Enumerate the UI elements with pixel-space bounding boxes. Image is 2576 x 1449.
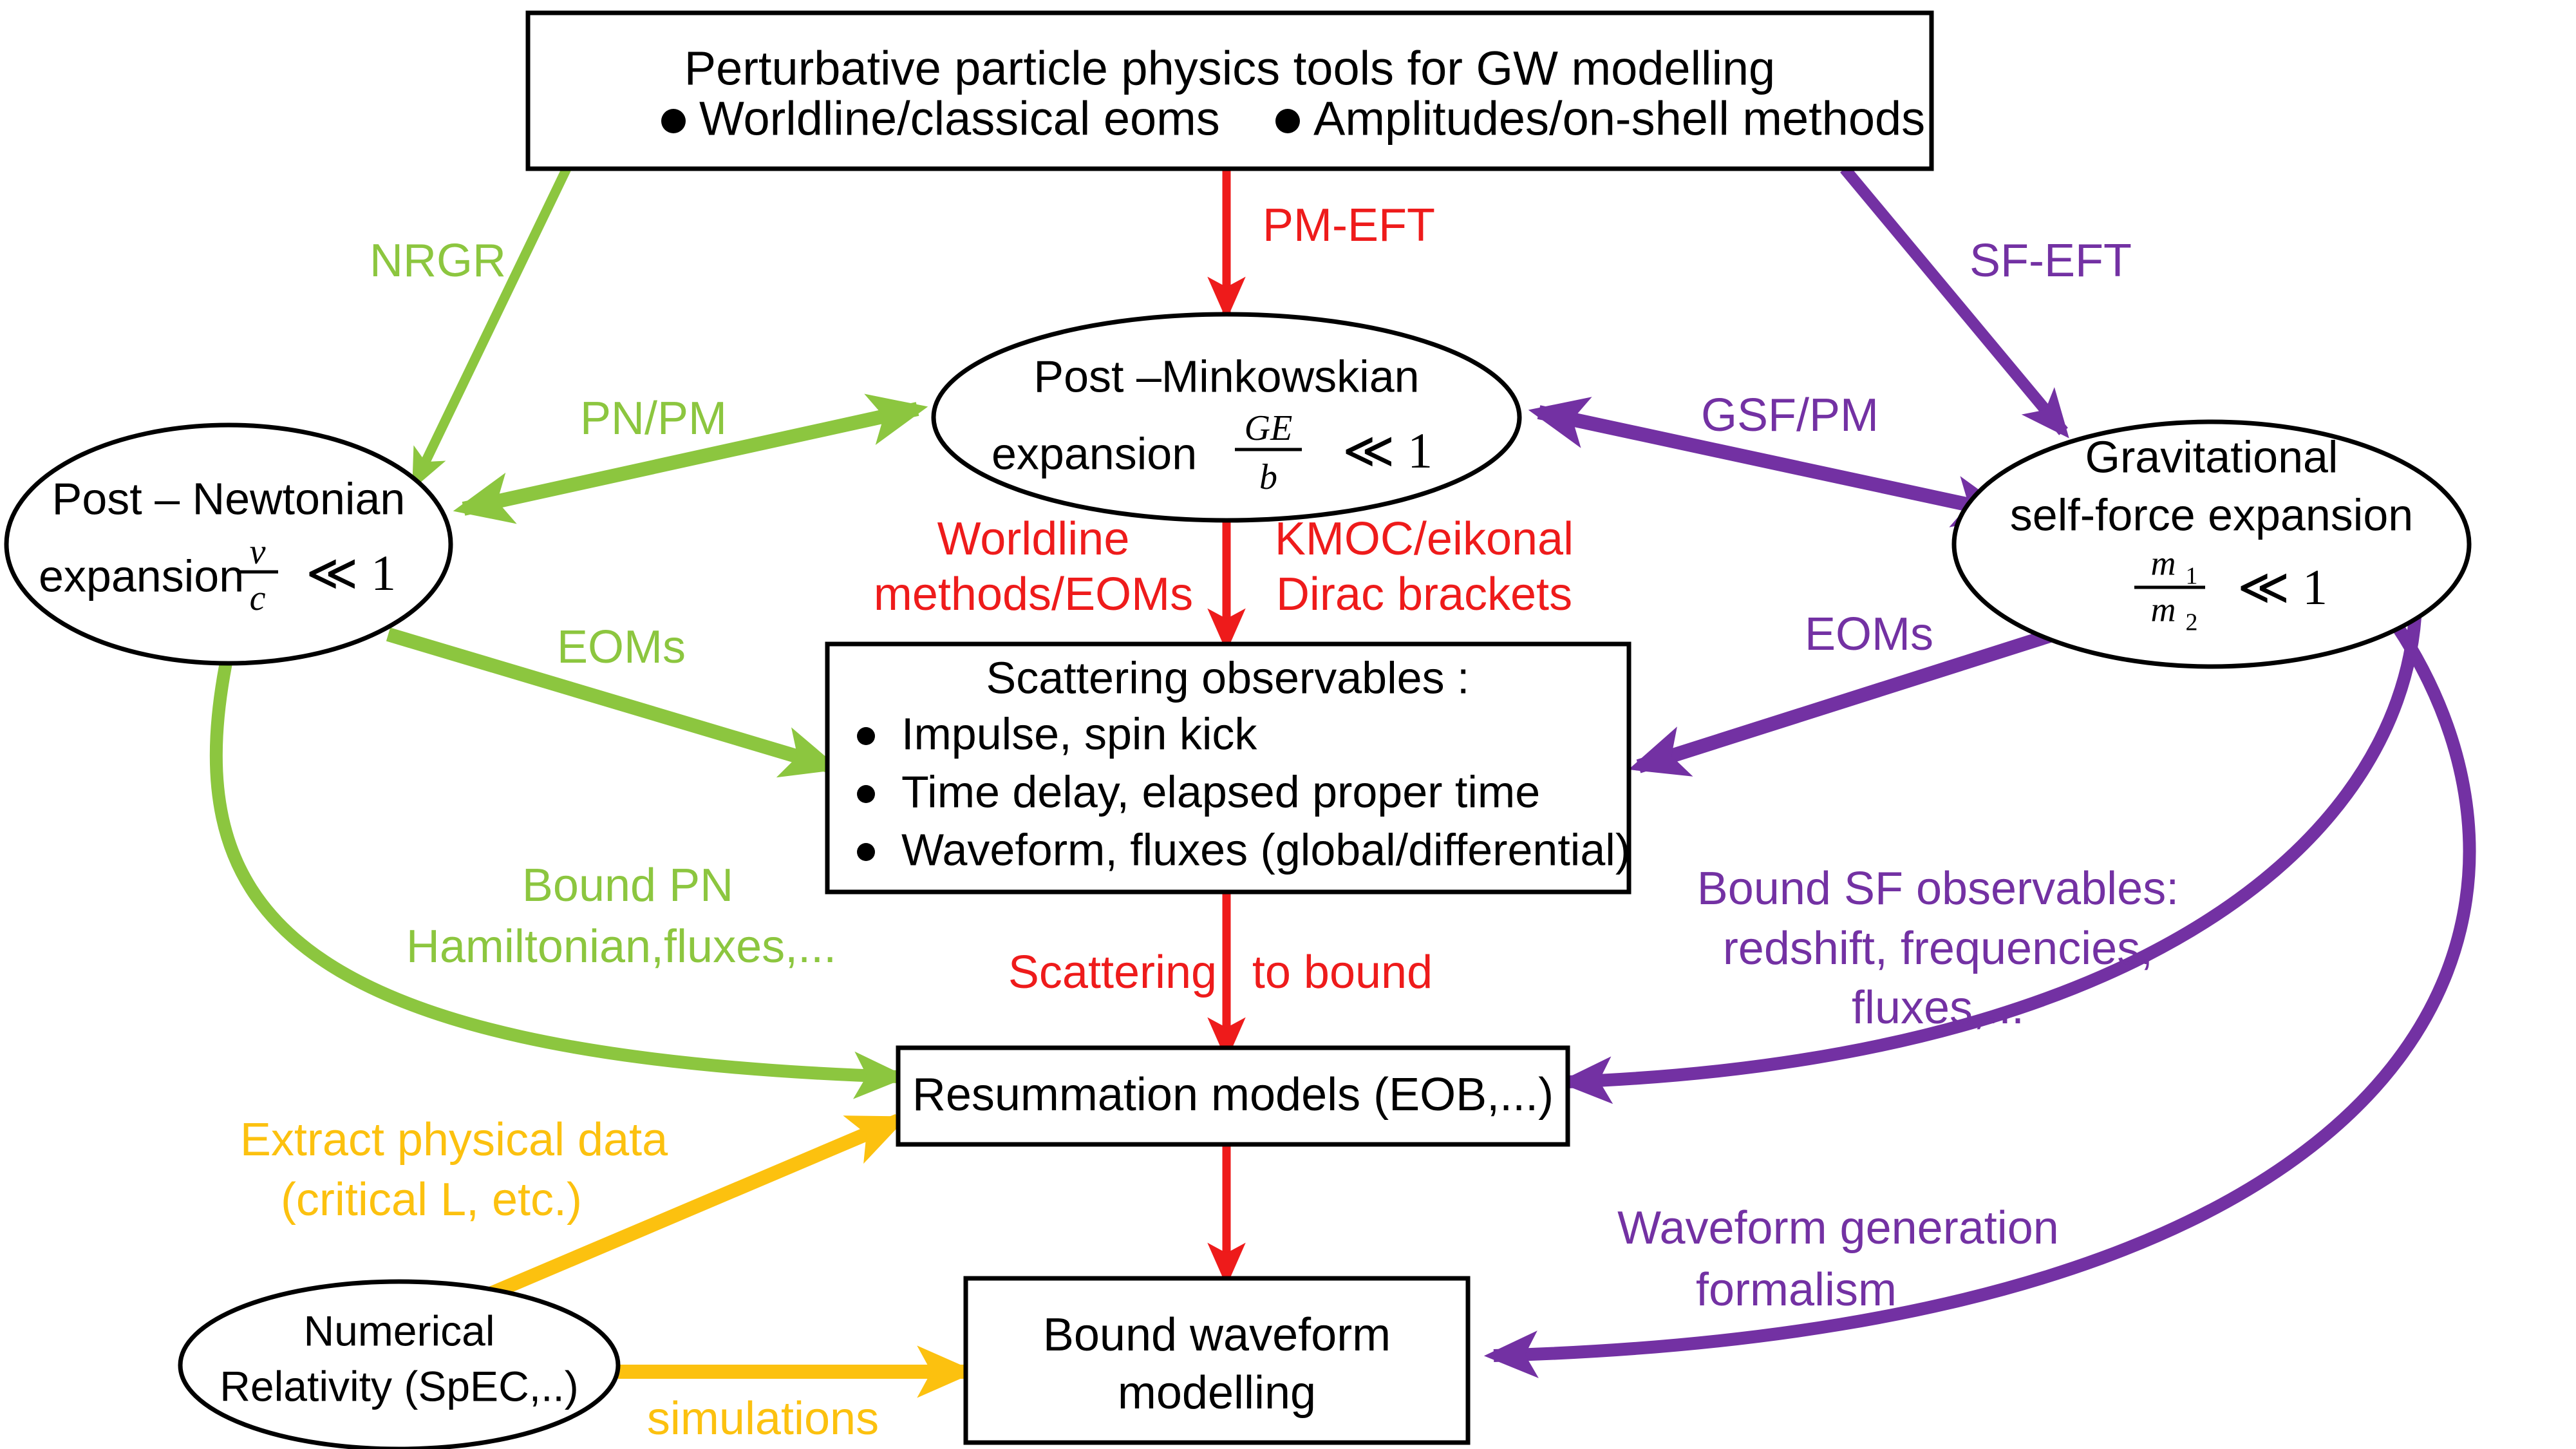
bullet-dot-icon: [1275, 109, 1300, 133]
sf-frac-numerator-sub: 1: [2186, 563, 2198, 590]
node-tools-box[interactable]: Perturbative particle physics tools for …: [528, 13, 1932, 169]
bound-waveform-line-2: modelling: [1118, 1367, 1316, 1419]
edge-label-to-bound: to bound: [1252, 947, 1433, 998]
edge-label-waveform-gen-1: Waveform generation: [1617, 1202, 2059, 1254]
edge-label-eoms-green: EOMs: [557, 621, 686, 673]
scattering-box-title: Scattering observables :: [986, 652, 1470, 703]
edge-label-waveform-gen-2: formalism: [1696, 1264, 1897, 1316]
edge-label-bound-pn-1: Bound PN: [522, 860, 733, 911]
node-bound-waveform-modelling[interactable]: Bound waveform modelling: [966, 1278, 1468, 1443]
edge-label-kmoc-2: Dirac brackets: [1276, 569, 1572, 620]
pm-frac-numerator: GE: [1245, 408, 1293, 448]
pm-line-2-prefix: expansion: [992, 428, 1197, 478]
edge-label-gsf-pm: GSF/PM: [1701, 390, 1879, 441]
pm-relation: ≪ 1: [1342, 422, 1433, 478]
sf-relation: ≪ 1: [2237, 559, 2327, 615]
tools-box-bullet-2: Amplitudes/on-shell methods: [1313, 92, 1925, 146]
edge-label-sf-eft: SF-EFT: [1970, 235, 2132, 287]
scattering-item-1: Impulse, spin kick: [901, 708, 1257, 759]
bound-waveform-line-1: Bound waveform: [1043, 1309, 1391, 1361]
edge-label-scattering: Scattering: [1008, 947, 1217, 998]
edge-nrgr: [415, 169, 567, 483]
edge-label-extract-1: Extract physical data: [240, 1114, 668, 1166]
sf-frac-denominator-sub: 2: [2186, 609, 2198, 636]
edge-label-bound-sf-1: Bound SF observables:: [1697, 863, 2179, 914]
bullet-dot-icon: [857, 843, 875, 861]
sf-frac-numerator: m: [2151, 544, 2176, 582]
flowchart-canvas: Perturbative particle physics tools for …: [0, 0, 2576, 1449]
node-post-minkowskian[interactable]: Post –Minkowskian expansion GE b ≪ 1: [934, 314, 1519, 520]
edge-label-eoms-purple: EOMs: [1805, 609, 1933, 660]
pm-line-1: Post –Minkowskian: [1033, 351, 1419, 401]
bullet-dot-icon: [857, 785, 875, 803]
bullet-dot-icon: [857, 727, 875, 745]
node-resummation-models[interactable]: Resummation models (EOB,...): [898, 1048, 1568, 1144]
pm-frac-denominator: b: [1259, 457, 1277, 497]
edge-label-bound-sf-2: redshift, frequencies,: [1723, 923, 2153, 974]
node-numerical-relativity[interactable]: Numerical Relativity (SpEC,..): [180, 1282, 618, 1449]
sf-line-1: Gravitational: [2085, 431, 2338, 482]
gw-modelling-flowchart: Perturbative particle physics tools for …: [0, 0, 2576, 1449]
pn-relation: ≪ 1: [306, 545, 396, 601]
node-gravitational-self-force[interactable]: Gravitational self-force expansion m 1 m…: [1954, 422, 2469, 667]
edge-label-pm-eft: PM-EFT: [1263, 200, 1435, 251]
edge-label-bound-pn-2: Hamiltonian,fluxes,...: [406, 921, 836, 972]
nr-line-1: Numerical: [303, 1307, 494, 1354]
edge-label-simulations: simulations: [647, 1393, 879, 1444]
edge-label-bound-sf-3: fluxes,...: [1852, 982, 2024, 1034]
scattering-item-3: Waveform, fluxes (global/differential): [901, 824, 1630, 875]
resummation-label: Resummation models (EOB,...): [912, 1069, 1554, 1121]
pn-line-2-prefix: expansion: [39, 551, 244, 601]
edge-label-worldline-1: Worldline: [937, 513, 1130, 565]
edge-label-kmoc-1: KMOC/eikonal: [1275, 513, 1574, 565]
edge-label-pn-pm: PN/PM: [580, 393, 727, 444]
pm-ellipse-shape: [934, 314, 1519, 520]
tools-box-title: Perturbative particle physics tools for …: [684, 42, 1775, 95]
edge-label-worldline-2: methods/EOMs: [874, 569, 1193, 620]
pn-line-1: Post – Newtonian: [52, 473, 406, 524]
sf-frac-denominator: m: [2151, 590, 2176, 629]
edge-label-nrgr: NRGR: [370, 235, 506, 287]
sf-line-2: self-force expansion: [2010, 489, 2413, 540]
node-post-newtonian[interactable]: Post – Newtonian expansion v c ≪ 1: [6, 425, 451, 663]
bullet-dot-icon: [661, 109, 686, 133]
scattering-item-2: Time delay, elapsed proper time: [901, 766, 1540, 817]
pn-frac-denominator: c: [250, 578, 266, 618]
edge-label-extract-2: (critical L, etc.): [281, 1174, 582, 1226]
node-scattering-observables[interactable]: Scattering observables : Impulse, spin k…: [827, 644, 1630, 892]
nr-line-2: Relativity (SpEC,..): [220, 1362, 578, 1410]
tools-box-bullet-1: Worldline/classical eoms: [699, 92, 1220, 146]
pn-frac-numerator: v: [250, 532, 266, 572]
